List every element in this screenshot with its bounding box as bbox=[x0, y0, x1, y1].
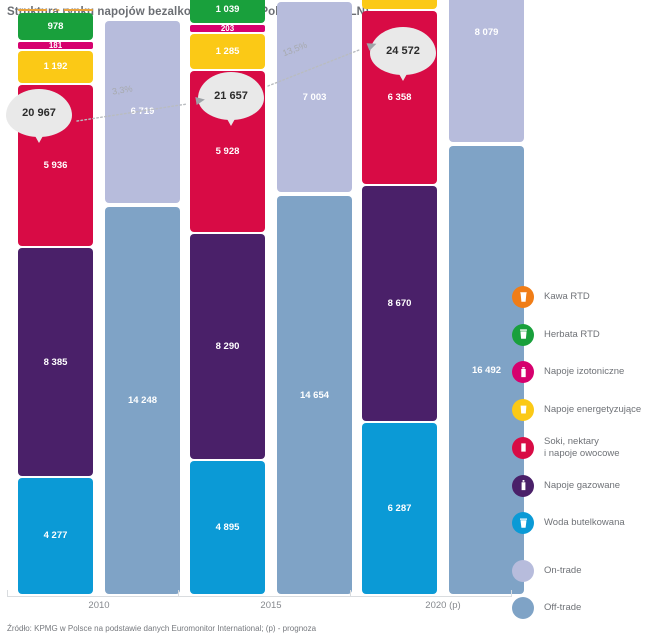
isotonic-bottle-icon bbox=[512, 361, 534, 383]
legend-label-line-2: i napoje owocowe bbox=[544, 448, 620, 460]
legend-item-napoje-izotoniczne[interactable]: Napoje izotoniczne bbox=[512, 361, 655, 383]
chart-plot-area: 4 2778 3855 9361 192181978184 8958 2905 … bbox=[0, 0, 520, 600]
legend-item-label: Napoje izotoniczne bbox=[544, 366, 624, 378]
legend-item-label: Soki, nektaryi napoje owocowe bbox=[544, 436, 620, 459]
legend-item-label: Napoje gazowane bbox=[544, 480, 620, 492]
x-axis-tick-0 bbox=[7, 590, 8, 597]
coffee-cup-icon bbox=[512, 286, 534, 308]
legend-item-label: Off-trade bbox=[544, 602, 581, 614]
growth-arrow-head-0 bbox=[195, 96, 205, 105]
juice-carton-icon bbox=[512, 437, 534, 459]
legend-divider bbox=[512, 550, 655, 560]
growth-arrow-line-0 bbox=[77, 104, 187, 121]
legend-item-label: Napoje energetyzujące bbox=[544, 404, 641, 416]
x-axis-tick-1 bbox=[178, 590, 179, 597]
legend-item-woda-butelkowana[interactable]: Woda butelkowana bbox=[512, 512, 655, 534]
tea-cup-icon bbox=[512, 324, 534, 346]
growth-arrow-head-1 bbox=[367, 40, 378, 51]
source-note: Źródło: KPMG w Polsce na podstawie danyc… bbox=[7, 624, 316, 633]
legend-item-label: On-trade bbox=[544, 565, 582, 577]
water-glass-icon bbox=[512, 512, 534, 534]
legend-item-soki-nektary-i-napoje-owocowe[interactable]: Soki, nektaryi napoje owocowe bbox=[512, 436, 655, 459]
legend-swatch-on-trade bbox=[512, 560, 534, 582]
legend-item-label: Kawa RTD bbox=[544, 291, 590, 303]
legend-item-label: Herbata RTD bbox=[544, 329, 600, 341]
x-axis-tick-2 bbox=[350, 590, 351, 597]
legend-item-kawa-rtd[interactable]: Kawa RTD bbox=[512, 286, 655, 308]
x-axis-label-2020p: 2020 (p) bbox=[393, 600, 493, 611]
x-axis-label-2015: 2015 bbox=[221, 600, 321, 611]
legend-swatch-off-trade bbox=[512, 597, 534, 619]
x-axis-label-2010: 2010 bbox=[49, 600, 149, 611]
legend-item-label: Woda butelkowana bbox=[544, 517, 625, 529]
legend-label-line-1: Soki, nektary bbox=[544, 436, 620, 448]
legend-item-off-trade[interactable]: Off-trade bbox=[512, 597, 655, 619]
chart-legend: Kawa RTDHerbata RTDNapoje izotoniczneNap… bbox=[512, 286, 655, 635]
soda-bottle-icon bbox=[512, 475, 534, 497]
legend-item-on-trade[interactable]: On-trade bbox=[512, 560, 655, 582]
growth-arrow-line-1 bbox=[268, 50, 359, 86]
growth-arrows bbox=[0, 0, 520, 600]
legend-item-herbata-rtd[interactable]: Herbata RTD bbox=[512, 324, 655, 346]
legend-item-napoje-energetyzuj-ce[interactable]: Napoje energetyzujące bbox=[512, 399, 655, 421]
legend-item-napoje-gazowane[interactable]: Napoje gazowane bbox=[512, 475, 655, 497]
energy-can-icon bbox=[512, 399, 534, 421]
